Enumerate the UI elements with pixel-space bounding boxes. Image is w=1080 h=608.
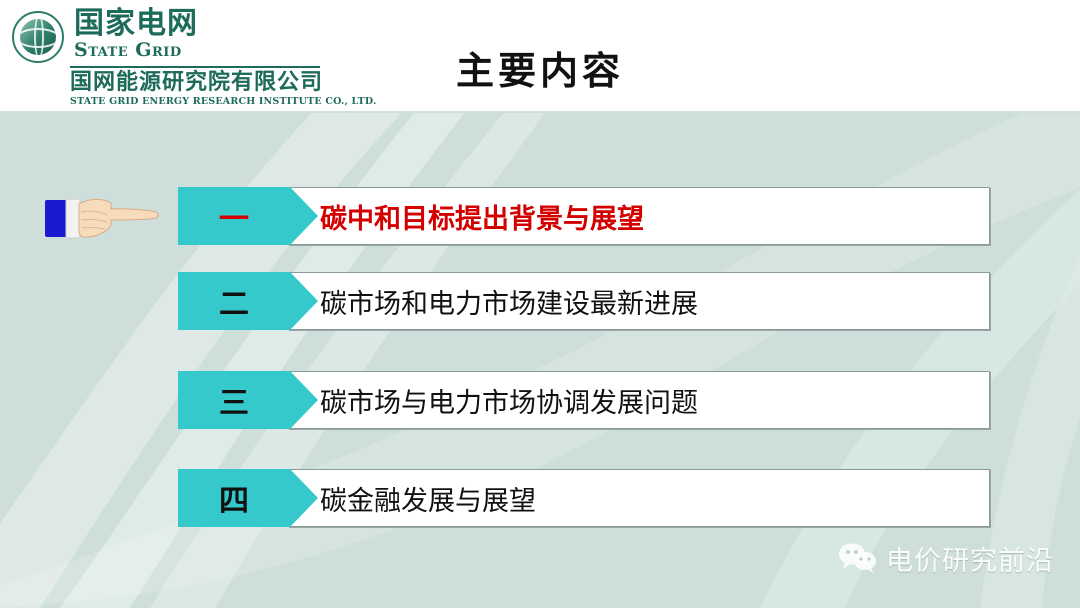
- content-row-label: 碳金融发展与展望: [320, 469, 536, 527]
- page-title: 主要内容: [0, 40, 1080, 95]
- content-row-number: 三: [178, 371, 290, 429]
- slide-canvas: 国家电网 State Grid 国网能源研究院有限公司 STATE GRID E…: [0, 0, 1080, 608]
- slide-header: 国家电网 State Grid 国网能源研究院有限公司 STATE GRID E…: [0, 0, 1080, 113]
- content-row-number: 四: [178, 469, 290, 527]
- content-row-number: 二: [178, 272, 290, 330]
- watermark-label: 电价研究前沿: [886, 539, 1054, 578]
- content-row[interactable]: 四 碳金融发展与展望: [178, 469, 990, 527]
- pointing-hand-icon: [45, 192, 160, 244]
- content-row-label: 碳市场和电力市场建设最新进展: [320, 272, 698, 330]
- content-row-number: 一: [178, 187, 290, 245]
- logo-english-sub: STATE GRID ENERGY RESEARCH INSTITUTE CO.…: [70, 96, 377, 107]
- wechat-watermark: 电价研究前沿: [838, 538, 1054, 578]
- content-row[interactable]: 三 碳市场与电力市场协调发展问题: [178, 371, 990, 429]
- wechat-icon: [838, 542, 878, 574]
- content-row-label: 碳市场与电力市场协调发展问题: [320, 371, 698, 429]
- content-row[interactable]: 二 碳市场和电力市场建设最新进展: [178, 272, 990, 330]
- content-row-label: 碳中和目标提出背景与展望: [320, 187, 644, 245]
- header-separator-line: [0, 111, 1080, 113]
- content-row[interactable]: 一 碳中和目标提出背景与展望: [178, 187, 990, 245]
- logo-chinese-main: 国家电网: [74, 8, 198, 40]
